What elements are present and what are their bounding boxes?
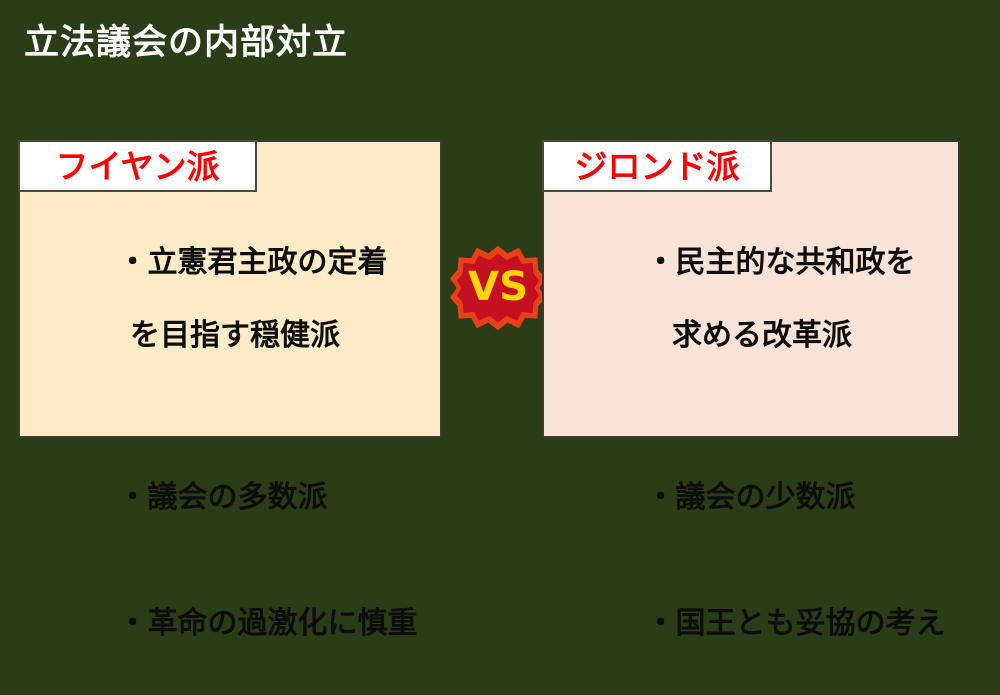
bullet-line-2: 求める改革派 [562, 318, 948, 355]
bullet-line-1: ・革命の過激化に慎重 [118, 606, 418, 641]
bullet-line-2: を目指す穏健派 [34, 318, 430, 355]
list-item: ・国王とも妥協の考え [562, 569, 948, 679]
bullet-line-1: ・民主的な共和政を [646, 245, 916, 280]
starburst-icon: VS [450, 240, 546, 336]
faction-label-girondins: ジロンド派 [542, 140, 772, 192]
list-item: ・民主的な共和政を 求める改革派 [562, 208, 948, 428]
list-item: ・議会の多数派 [34, 444, 430, 554]
faction-bullet-list-girondins: ・民主的な共和政を 求める改革派 ・議会の少数派 ・国王とも妥協の考え [544, 198, 958, 695]
versus-badge: VS [450, 240, 546, 336]
slide-canvas: 立法議会の内部対立 フイヤン派 ・立憲君主政の定着 を目指す穏健派 ・議会の多数… [0, 0, 1000, 563]
faction-label-text: フイヤン派 [55, 150, 219, 183]
bullet-line-1: ・議会の少数派 [646, 480, 856, 515]
versus-text: VS [468, 263, 528, 310]
faction-bullet-list-feuillants: ・立憲君主政の定着 を目指す穏健派 ・議会の多数派 ・革命の過激化に慎重 [20, 198, 440, 695]
page-title: 立法議会の内部対立 [24, 22, 348, 64]
faction-panel-feuillants: フイヤン派 ・立憲君主政の定着 を目指す穏健派 ・議会の多数派 ・革命の過激化に… [18, 140, 442, 438]
faction-panel-girondins: ジロンド派 ・民主的な共和政を 求める改革派 ・議会の少数派 ・国王とも妥協の考… [542, 140, 960, 438]
faction-label-feuillants: フイヤン派 [18, 140, 257, 192]
bullet-line-1: ・国王とも妥協の考え [646, 606, 946, 641]
list-item: ・立憲君主政の定着 を目指す穏健派 [34, 208, 430, 428]
faction-label-text: ジロンド派 [575, 150, 740, 183]
list-item: ・議会の少数派 [562, 444, 948, 554]
list-item: ・革命の過激化に慎重 [34, 569, 430, 679]
bullet-line-1: ・議会の多数派 [118, 480, 328, 515]
bullet-line-1: ・立憲君主政の定着 [118, 245, 388, 280]
